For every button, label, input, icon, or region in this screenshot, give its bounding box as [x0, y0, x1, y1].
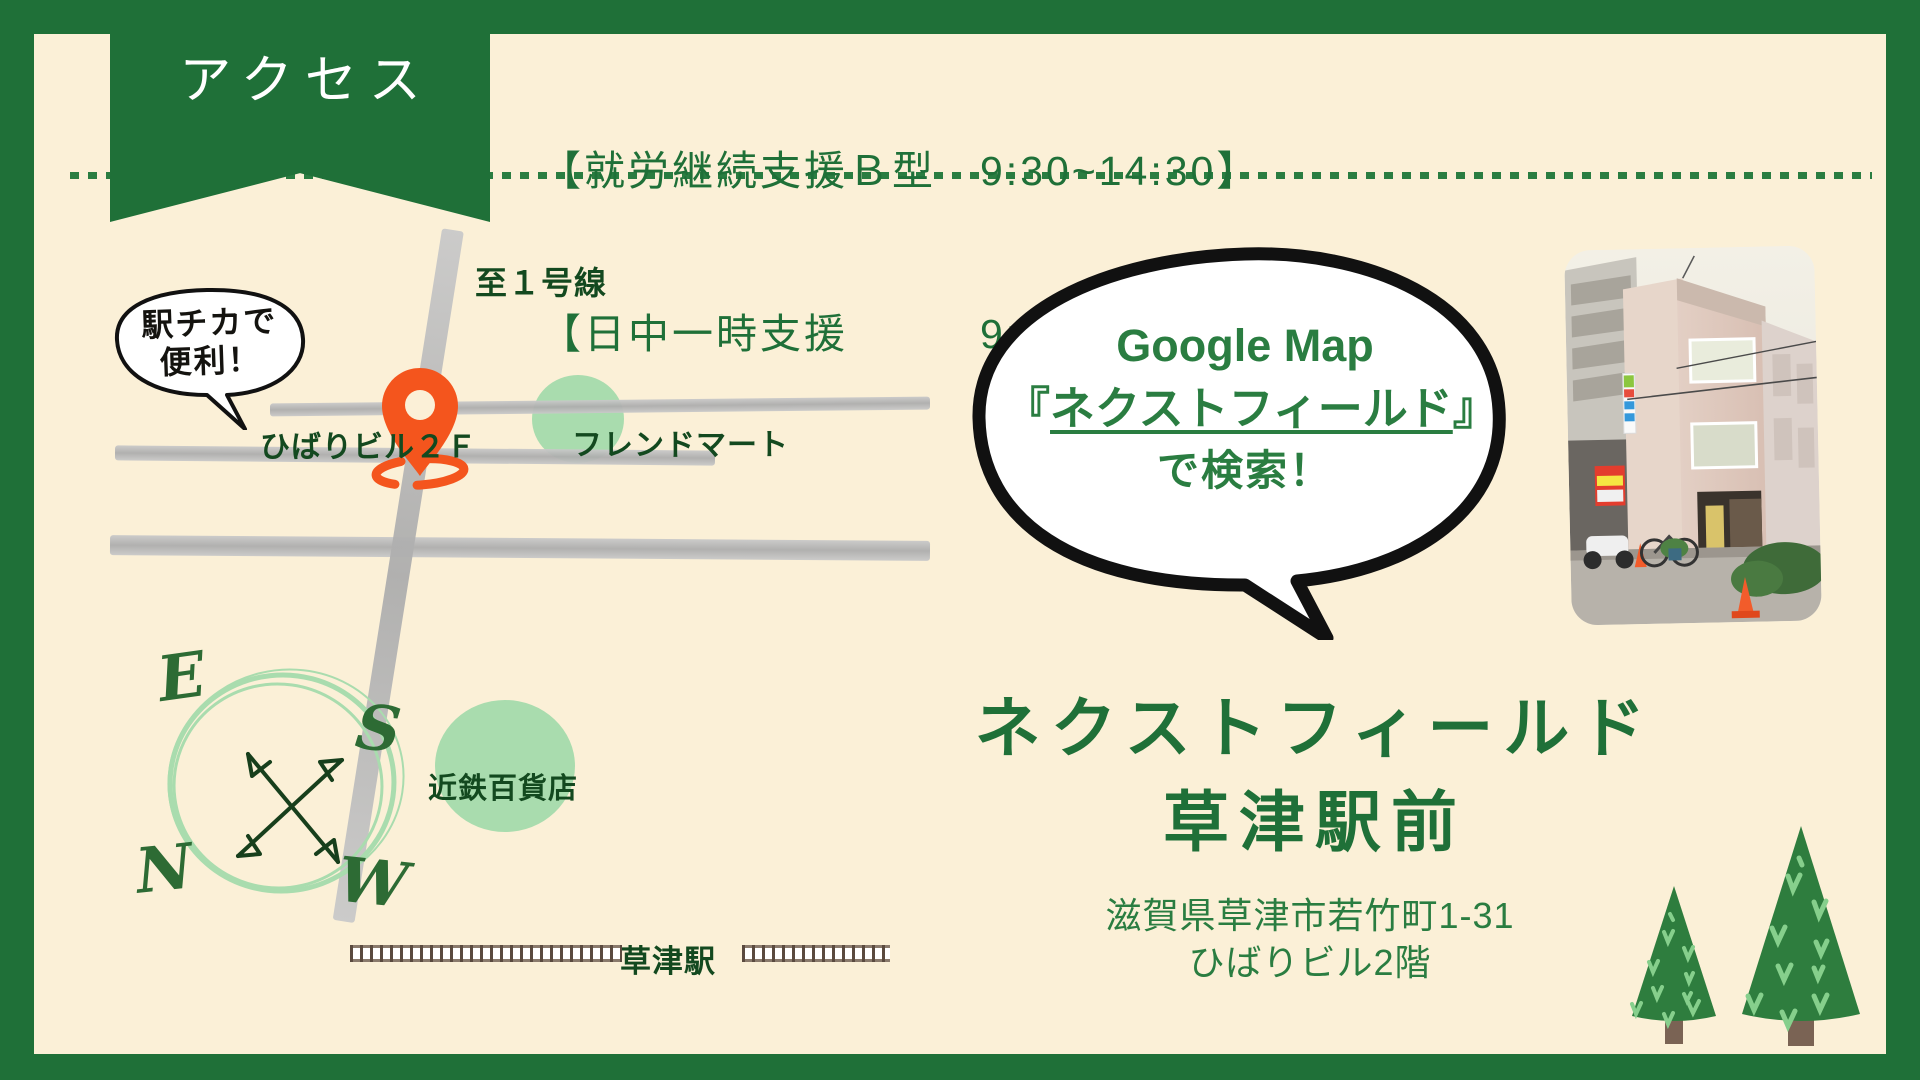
poster-root: アクセス 【就労継続支援Ｂ型 9:30~14:30】 【日中一時支援 9:15~…	[0, 0, 1920, 1080]
bracket-close: 』	[1453, 383, 1498, 434]
railway-segment-left	[350, 945, 622, 962]
search-keyword-line: 『ネクストフィールド』	[1005, 372, 1485, 437]
building-exterior-photo	[1564, 245, 1822, 625]
facility-name-line1: ネクストフィールド	[830, 675, 1790, 771]
google-map-label: Google Map	[1005, 320, 1485, 372]
kintetsu-department-label: 近鉄百貨店	[428, 765, 578, 807]
search-keyword: ネクストフィールド	[1050, 383, 1453, 434]
station-near-speech-bubble: 駅チカで 便利！	[95, 285, 325, 405]
compass-south-label: S	[352, 690, 404, 767]
compass-rose: E S N W	[130, 650, 430, 920]
pine-trees-decoration	[1560, 790, 1900, 1060]
bracket-open: 『	[1005, 383, 1050, 434]
railway-track	[350, 935, 890, 975]
hand-bubble-line2: 便利！	[95, 339, 326, 385]
google-map-speech-bubble: Google Map 『ネクストフィールド』 で検索！	[945, 240, 1545, 640]
google-bubble-text: Google Map 『ネクストフィールド』 で検索！	[1005, 320, 1485, 498]
compass-east-label: E	[153, 637, 210, 716]
compass-north-label: N	[132, 829, 196, 908]
hand-bubble-text: 駅チカで 便利！	[94, 301, 326, 384]
road-horizontal-lower	[110, 535, 930, 561]
compass-west-label: W	[334, 843, 411, 923]
search-instruction: で検索！	[1005, 437, 1485, 498]
access-tab-label: アクセス	[167, 38, 432, 113]
hours-line-b-type: 【就労継続支援Ｂ型 9:30~14:30】	[540, 144, 1260, 198]
